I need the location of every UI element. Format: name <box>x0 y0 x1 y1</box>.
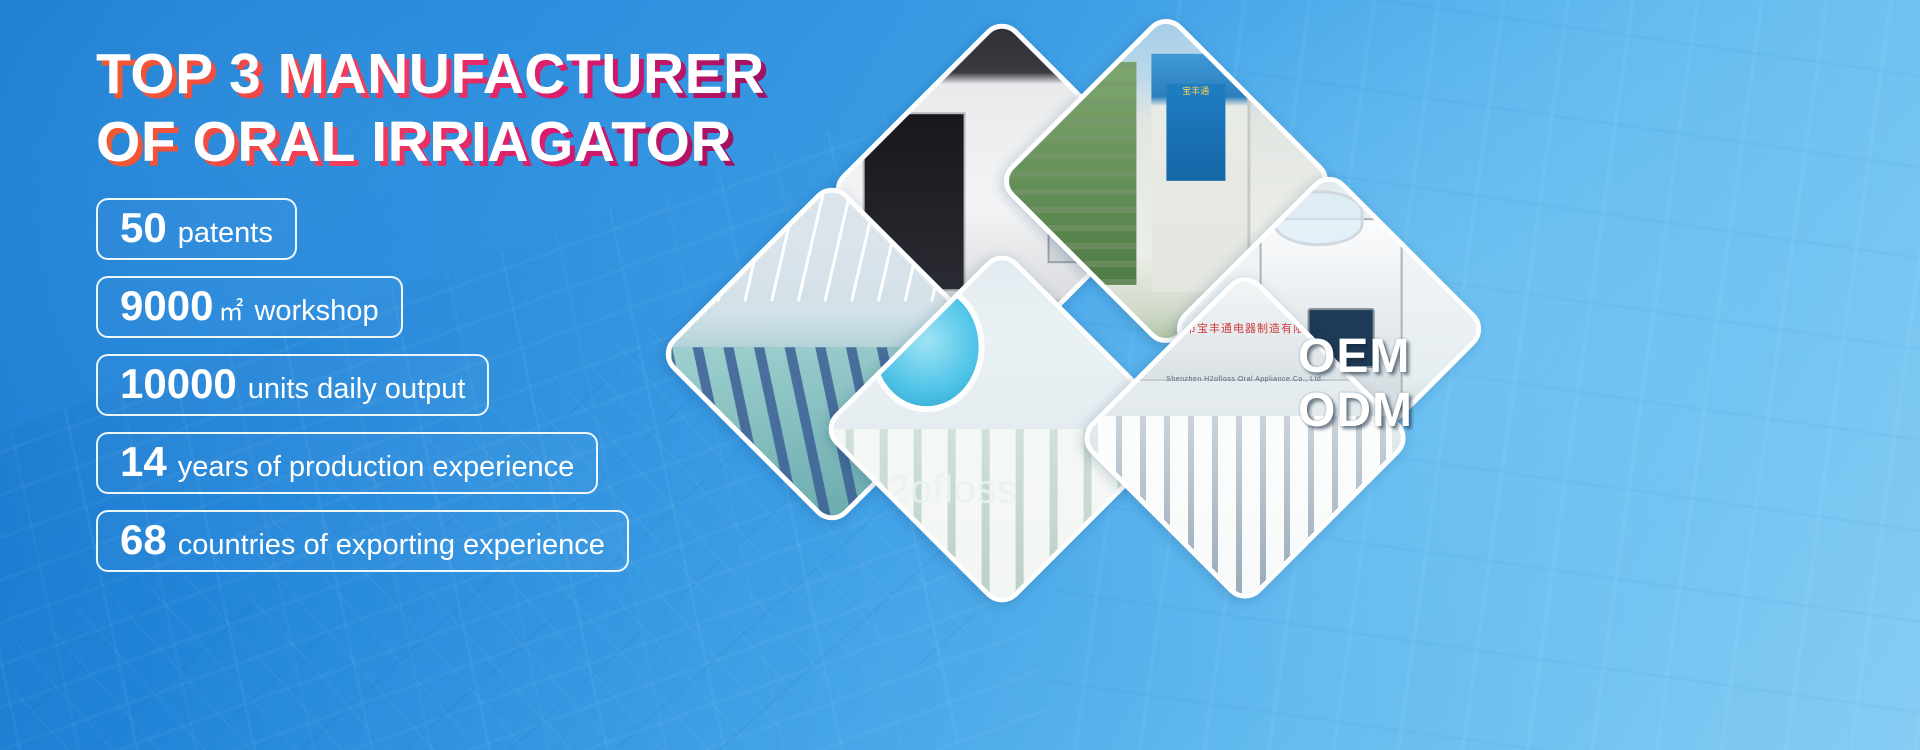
stat-label: workshop <box>254 297 378 326</box>
stat-item-experience-years: 14 years of production experience <box>96 432 598 494</box>
stat-item-daily-output: 10000 units daily output <box>96 354 489 416</box>
stat-item-workshop: 9000 ㎡ workshop <box>96 276 403 338</box>
stat-number: 50 <box>120 207 167 249</box>
service-tag-odm: ODM <box>1298 384 1413 438</box>
stat-unit: ㎡ <box>218 300 243 325</box>
stat-label: patents <box>178 219 273 248</box>
stat-number: 10000 <box>120 363 237 405</box>
stat-item-export-countries: 68 countries of exporting experience <box>96 510 629 572</box>
floor-marking-line <box>736 362 765 529</box>
photo-collage: 宝丰通 h2ofloss 深圳市宝丰通电器制造有限公司 Shenzhen H2o… <box>660 0 1920 750</box>
stat-number: 9000 <box>120 285 213 327</box>
headline-line-1: TOP 3 MANUFACTURER TOP 3 MANUFACTURER <box>96 40 816 108</box>
stat-number: 68 <box>120 519 167 561</box>
stat-number: 14 <box>120 441 167 483</box>
service-tag-oem: OEM <box>1298 330 1413 384</box>
stat-item-patents: 50 patents <box>96 198 297 260</box>
headline-line-2-text: OF ORAL IRRIAGATOR <box>96 108 732 176</box>
building-sign-cn: 宝丰通 <box>1166 84 1225 181</box>
brand-name: h2ofloss <box>864 468 1017 512</box>
stat-label: countries of exporting experience <box>178 531 605 560</box>
headline-line-1-text: TOP 3 MANUFACTURER <box>96 40 765 108</box>
stat-label: years of production experience <box>178 453 575 482</box>
promotional-banner: TOP 3 MANUFACTURER TOP 3 MANUFACTURER OF… <box>0 0 1920 750</box>
service-tags: OEM ODM <box>1298 330 1413 438</box>
headline-line-2: OF ORAL IRRIAGATOR OF ORAL IRRIAGATOR <box>96 108 816 176</box>
stat-label: units daily output <box>248 375 466 404</box>
page-title: TOP 3 MANUFACTURER TOP 3 MANUFACTURER OF… <box>96 40 816 176</box>
